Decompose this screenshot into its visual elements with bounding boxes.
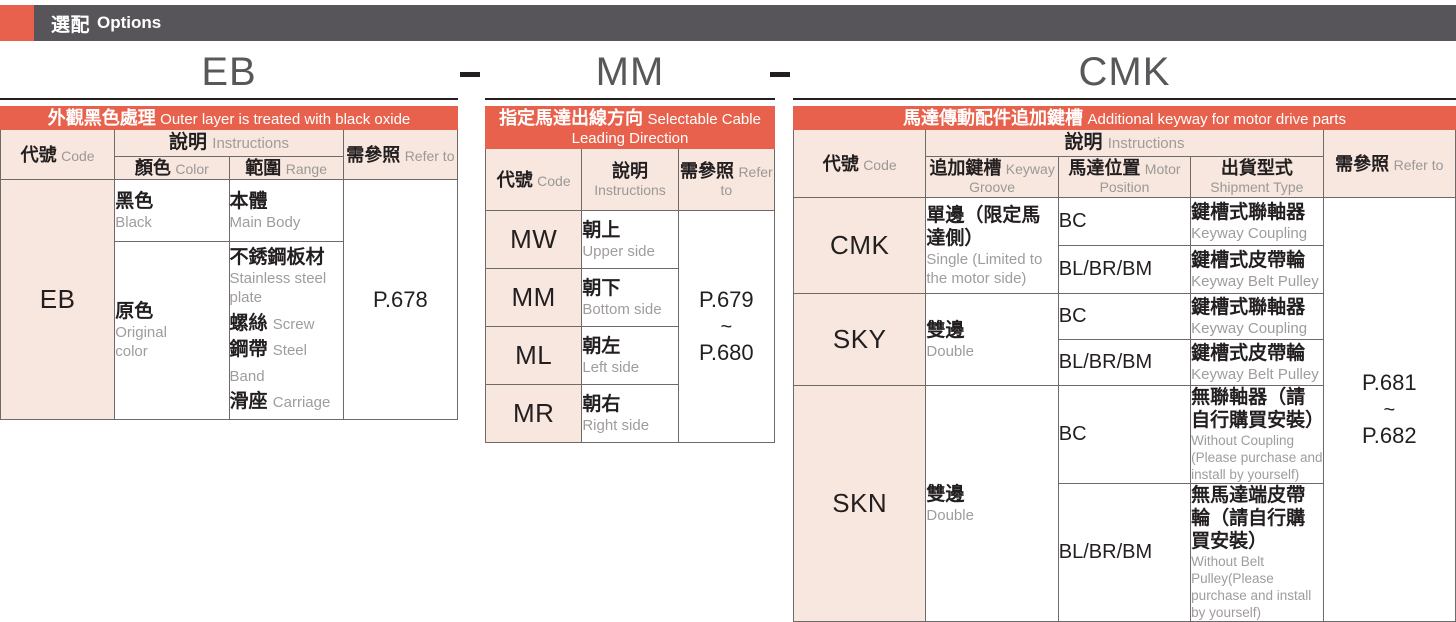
header-refer: 需參照 Refer to <box>343 130 457 180</box>
shipment-zh: 鍵槽式聯軸器 <box>1191 201 1322 224</box>
range-zh: 本體 <box>230 190 343 213</box>
group-cmk: CMK 馬達傳動配件追加鍵槽 Additional keyway for mot… <box>793 44 1456 622</box>
caption-zh: 指定馬達出線方向 <box>499 108 643 128</box>
banner-bar: 選配 Options <box>34 5 1456 41</box>
shipment-zh: 鍵槽式皮帶輪 <box>1191 342 1322 365</box>
header-color: 顏色 Color <box>115 157 229 180</box>
table-row: MW 朝上 Upper side P.679 ~ P.680 <box>486 211 775 269</box>
cell-motorpos-sky-blbrbm: BL/BR/BM <box>1058 340 1190 386</box>
range-zh: 不銹鋼板材 <box>230 246 343 269</box>
cell-keyway-sky: 雙邊 Double <box>926 294 1058 386</box>
header-refer: 需參照 Refer to <box>1323 130 1455 198</box>
refer-tilde: ~ <box>720 316 732 338</box>
cell-shipment-skn-bc: 無聯軸器（請自行購買安裝） Without Coupling (Please p… <box>1191 386 1323 484</box>
banner-accent-swatch <box>0 5 34 41</box>
header-instructions-en: Instructions <box>1108 135 1185 152</box>
direction-en: Left side <box>582 358 677 377</box>
header-motorpos-zh: 馬達位置 <box>1068 158 1140 178</box>
direction-en: Right side <box>582 416 677 435</box>
header-refer-zh: 需參照 <box>346 145 400 165</box>
options-banner: 選配 Options <box>0 5 1456 41</box>
table-cmk-caption: 馬達傳動配件追加鍵槽 Additional keyway for motor d… <box>794 107 1456 130</box>
header-instructions: 說明 Instructions <box>115 130 344 157</box>
cell-range-original: 不銹鋼板材 Stainless steel plate 螺絲 Screw 鋼帶 … <box>229 242 343 420</box>
table-row: EB 黑色 Black 本體 Main Body P.678 <box>1 180 458 242</box>
header-shipment-en: Shipment Type <box>1210 179 1303 195</box>
shipment-en: Without Coupling (Please purchase and in… <box>1191 432 1322 483</box>
direction-zh: 朝左 <box>582 335 677 358</box>
header-keyway-zh: 追加鍵槽 <box>929 158 1001 178</box>
banner-title-en: Options <box>97 13 161 33</box>
header-color-en: Color <box>175 161 208 177</box>
cell-motorpos-sky-bc: BC <box>1058 294 1190 340</box>
direction-zh: 朝上 <box>582 219 677 242</box>
keyway-en: Double <box>926 506 1057 525</box>
direction-zh: 朝下 <box>582 277 677 300</box>
cell-code-mw: MW <box>486 211 582 269</box>
direction-en: Upper side <box>582 242 677 261</box>
header-code-en: Code <box>863 157 896 173</box>
header-code-zh: 代號 <box>21 145 57 165</box>
header-range: 範圍 Range <box>229 157 343 180</box>
header-instructions-zh: 說明 <box>612 161 648 181</box>
header-shipment-type: 出貨型式 Shipment Type <box>1191 157 1323 198</box>
range-item-carriage: 滑座 Carriage <box>230 389 343 415</box>
cell-shipment-sky-bc: 鍵槽式聯軸器 Keyway Coupling <box>1191 294 1323 340</box>
header-instructions: 說明 Instructions <box>582 149 678 211</box>
cell-code-mm: MM <box>486 269 582 327</box>
banner-title-zh: 選配 <box>51 10 90 37</box>
shipment-en: Keyway Belt Pulley <box>1191 272 1322 291</box>
table-row: CMK 單邊（限定馬達側） Single (Limited to the mot… <box>794 198 1456 246</box>
group-mm: MM 指定馬達出線方向 Selectable Cable Leading Dir… <box>485 44 775 443</box>
color-en: Original color <box>115 323 177 361</box>
header-code: 代號 Code <box>486 149 582 211</box>
header-motor-position: 馬達位置 Motor Position <box>1058 157 1190 198</box>
direction-en: Bottom side <box>582 300 677 319</box>
direction-zh: 朝右 <box>582 393 677 416</box>
color-zh: 原色 <box>115 300 228 323</box>
header-refer: 需參照 Refer to <box>678 149 774 211</box>
header-keyway-groove: 追加鍵槽 Keyway Groove <box>926 157 1058 198</box>
cell-motorpos-cmk-bc: BC <box>1058 198 1190 246</box>
caption-en: Outer layer is treated with black oxide <box>160 111 410 128</box>
group-cmk-title: CMK <box>793 46 1456 100</box>
header-range-en: Range <box>286 161 327 177</box>
keyway-en: Double <box>926 342 1057 361</box>
header-shipment-zh: 出貨型式 <box>1221 158 1293 178</box>
keyway-zh: 單邊（限定馬達側） <box>926 204 1057 250</box>
cell-range-mainbody: 本體 Main Body <box>229 180 343 242</box>
color-zh: 黑色 <box>115 190 228 213</box>
range-en: Main Body <box>230 213 343 232</box>
keyway-zh: 雙邊 <box>926 319 1057 342</box>
refer-line-2: P.682 <box>1362 423 1417 448</box>
header-refer-en: Refer to <box>1394 157 1444 173</box>
shipment-en: Keyway Belt Pulley <box>1191 365 1322 384</box>
header-range-zh: 範圍 <box>245 158 281 178</box>
color-en: Black <box>115 213 228 232</box>
cell-code-ml: ML <box>486 327 582 385</box>
cell-refer-eb: P.678 <box>343 180 457 420</box>
header-instructions: 說明 Instructions <box>926 130 1323 157</box>
cell-direction-mr: 朝右 Right side <box>582 385 678 443</box>
table-eb-caption: 外觀黑色處理 Outer layer is treated with black… <box>1 107 458 130</box>
header-refer-en: Refer to <box>405 148 455 164</box>
range-item-steelband: 鋼帶 Steel Band <box>230 337 343 389</box>
shipment-zh: 鍵槽式聯軸器 <box>1191 296 1322 319</box>
caption-zh: 馬達傳動配件追加鍵槽 <box>903 108 1083 128</box>
group-eb: EB 外觀黑色處理 Outer layer is treated with bl… <box>0 44 458 420</box>
header-instructions-text: 說明 Instructions <box>926 130 1322 156</box>
table-cmk: 馬達傳動配件追加鍵槽 Additional keyway for motor d… <box>793 106 1456 622</box>
refer-line-1: P.679 <box>699 287 754 312</box>
cell-color-black: 黑色 Black <box>115 180 229 242</box>
refer-tilde: ~ <box>1383 399 1395 421</box>
header-refer-zh: 需參照 <box>1335 154 1389 174</box>
range-en: Stainless steel plate <box>230 269 343 307</box>
header-instructions-en: Instructions <box>212 135 289 152</box>
header-code-zh: 代號 <box>823 154 859 174</box>
cell-motorpos-cmk-blbrbm: BL/BR/BM <box>1058 246 1190 294</box>
header-instructions-text: 說明 Instructions <box>115 130 343 156</box>
keyway-zh: 雙邊 <box>926 483 1057 506</box>
cell-shipment-cmk-bc: 鍵槽式聯軸器 Keyway Coupling <box>1191 198 1323 246</box>
table-mm-caption: 指定馬達出線方向 Selectable Cable Leading Direct… <box>486 107 775 149</box>
header-code-en: Code <box>61 148 94 164</box>
shipment-en: Keyway Coupling <box>1191 224 1322 243</box>
shipment-en: Without Belt Pulley(Please purchase and … <box>1191 553 1322 621</box>
header-code-zh: 代號 <box>497 170 533 190</box>
refer-line-2: P.680 <box>699 340 754 365</box>
cell-code-cmk: CMK <box>794 198 926 294</box>
cell-motorpos-skn-bc: BC <box>1058 386 1190 484</box>
cell-shipment-cmk-blbrbm: 鍵槽式皮帶輪 Keyway Belt Pulley <box>1191 246 1323 294</box>
cell-color-original: 原色 Original color <box>115 242 229 420</box>
cell-keyway-cmk: 單邊（限定馬達側） Single (Limited to the motor s… <box>926 198 1058 294</box>
range-item-screw: 螺絲 Screw <box>230 311 343 337</box>
group-mm-title: MM <box>485 46 775 100</box>
header-refer-zh: 需參照 <box>680 161 734 181</box>
cell-code-skn: SKN <box>794 386 926 622</box>
cell-refer-mm: P.679 ~ P.680 <box>678 211 774 443</box>
cell-direction-mm: 朝下 Bottom side <box>582 269 678 327</box>
cell-shipment-sky-blbrbm: 鍵槽式皮帶輪 Keyway Belt Pulley <box>1191 340 1323 386</box>
header-code: 代號 Code <box>1 130 115 180</box>
shipment-zh: 無馬達端皮帶輪（請自行購買安裝） <box>1191 484 1322 553</box>
cell-keyway-skn: 雙邊 Double <box>926 386 1058 622</box>
keyway-en: Single (Limited to the motor side) <box>926 250 1057 288</box>
table-eb: 外觀黑色處理 Outer layer is treated with black… <box>0 106 458 420</box>
shipment-en: Keyway Coupling <box>1191 319 1322 338</box>
cell-direction-mw: 朝上 Upper side <box>582 211 678 269</box>
cell-refer-cmk: P.681 ~ P.682 <box>1323 198 1455 622</box>
cell-direction-ml: 朝左 Left side <box>582 327 678 385</box>
caption-en: Additional keyway for motor drive parts <box>1088 111 1346 128</box>
table-mm: 指定馬達出線方向 Selectable Cable Leading Direct… <box>485 106 775 443</box>
header-instructions-en: Instructions <box>594 182 666 198</box>
header-instructions-zh: 說明 <box>169 132 207 153</box>
shipment-zh: 鍵槽式皮帶輪 <box>1191 249 1322 272</box>
cell-code-eb: EB <box>1 180 115 420</box>
cell-code-sky: SKY <box>794 294 926 386</box>
separator-dash-1 <box>460 72 480 77</box>
cell-shipment-skn-blbrbm: 無馬達端皮帶輪（請自行購買安裝） Without Belt Pulley(Ple… <box>1191 484 1323 622</box>
header-instructions-zh: 說明 <box>1064 132 1102 153</box>
header-code-en: Code <box>537 173 570 189</box>
header-color-zh: 顏色 <box>135 158 171 178</box>
group-eb-title: EB <box>0 46 458 100</box>
cell-code-mr: MR <box>486 385 582 443</box>
caption-zh: 外觀黑色處理 <box>48 108 156 128</box>
header-code: 代號 Code <box>794 130 926 198</box>
shipment-zh: 無聯軸器（請自行購買安裝） <box>1191 386 1322 432</box>
refer-line-1: P.681 <box>1362 370 1417 395</box>
options-groups: EB 外觀黑色處理 Outer layer is treated with bl… <box>0 44 1456 555</box>
cell-motorpos-skn-blbrbm: BL/BR/BM <box>1058 484 1190 622</box>
